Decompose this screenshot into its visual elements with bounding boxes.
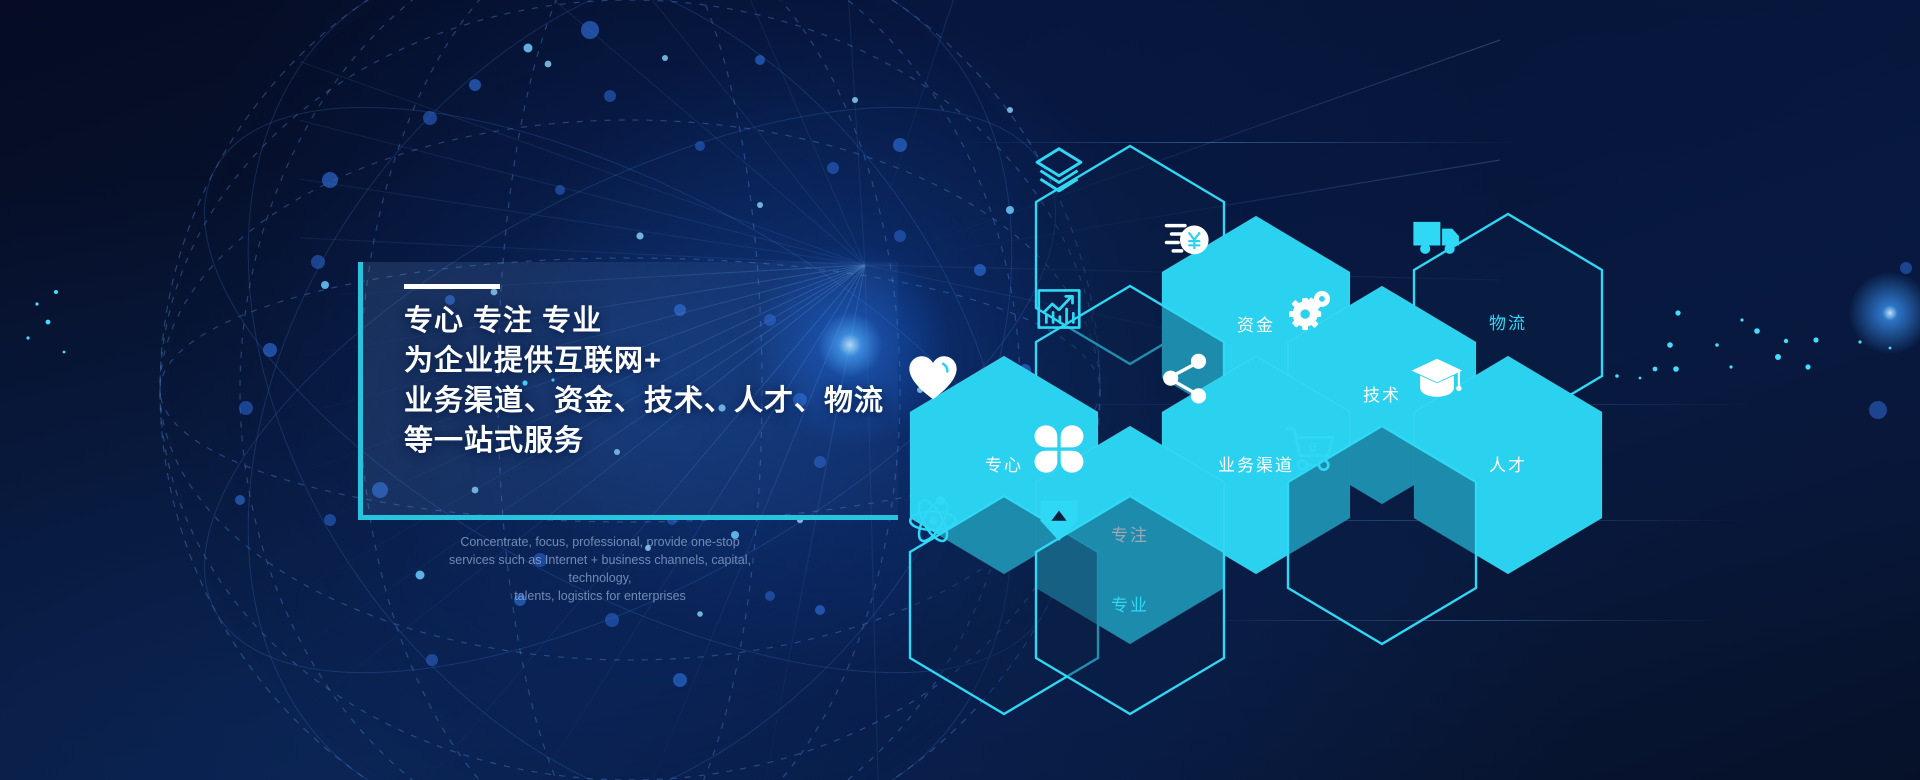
hex-tile-ecart[interactable] [1284,422,1480,648]
hex-label: 专业 [1111,597,1149,614]
truck-icon [1410,210,1464,264]
graduation-cap-icon [1410,352,1464,406]
shopping-cart-e-icon [1284,422,1338,476]
hex-label: 业务渠道 [1218,457,1294,474]
hero-banner: 专心 专注 专业 为企业提供互联网+ 业务渠道、资金、技术、人才、物流 等一站式… [0,0,1920,780]
layers-icon [1032,142,1086,196]
share-nodes-icon [1158,352,1212,406]
hex-label: 专心 [985,457,1023,474]
gears-icon [1284,282,1338,336]
hexagon-grid: 资金物流技术专心业务渠道人才专注专业 [0,0,1920,780]
money-yen-icon [1158,212,1212,266]
hex-label: 人才 [1489,457,1527,474]
growth-chart-icon [1032,282,1086,336]
hex-label: 物流 [1489,315,1527,332]
hex-tile-zhuanye[interactable]: 专业 [1032,492,1228,718]
heart-icon [906,352,960,406]
hex-label: 资金 [1237,317,1275,334]
clover-icon [1032,422,1086,476]
diamond-icon [1032,492,1086,546]
hex-label: 技术 [1363,387,1401,404]
atom-icon [906,492,960,546]
